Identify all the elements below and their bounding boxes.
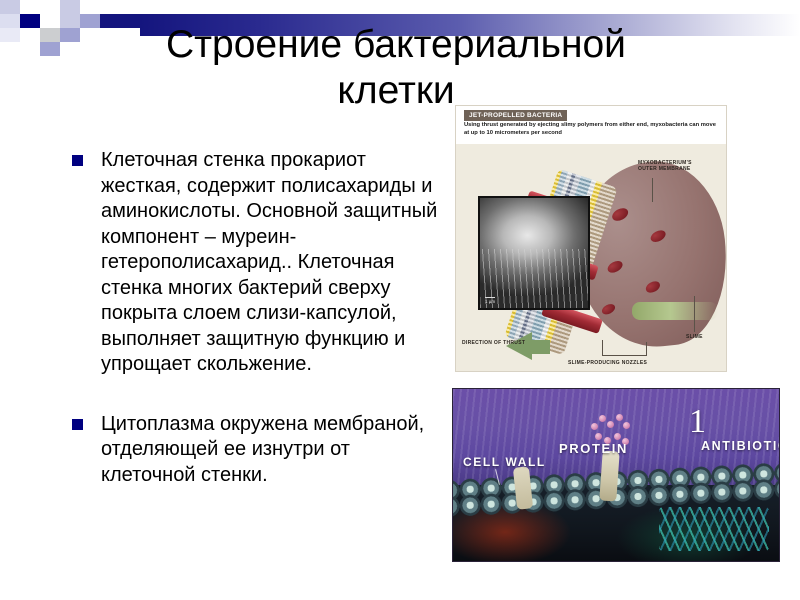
label-outer-membrane: MYXOBACTERIUM'S OUTER MEMBRANE: [638, 160, 692, 173]
decoration-square: [60, 0, 80, 14]
scale-bar-label: 1 µm: [485, 297, 495, 304]
antibiotic-molecule-node: [623, 422, 630, 429]
label-leader-line: [646, 342, 647, 356]
antibiotic-molecule-node: [616, 414, 623, 421]
decoration-square: [60, 14, 80, 28]
label-slime: SLIME: [686, 334, 703, 340]
decoration-square: [20, 14, 40, 28]
decoration-square: [0, 14, 20, 28]
decoration-square: [40, 28, 60, 42]
label-leader-line: [694, 296, 695, 332]
membrane-protein-illustration: [599, 450, 619, 501]
antibiotic-molecule-node: [607, 421, 614, 428]
decoration-square: [40, 14, 60, 28]
decoration-square: [0, 0, 20, 14]
decoration-square: [20, 28, 40, 42]
antibiotic-molecule-node: [614, 433, 621, 440]
bullet-list: Клеточная стенка прокариот жесткая, соде…: [72, 148, 444, 488]
label-leader-line: [602, 340, 603, 356]
page-title: Строение бактериальной клетки: [96, 22, 696, 114]
membrane-pore-icon: [610, 206, 630, 224]
label-protein: PROTEIN: [559, 441, 628, 456]
list-item: Цитоплазма окружена мембраной, отделяюще…: [72, 412, 444, 489]
step-number-label: 1: [689, 403, 706, 441]
thrust-arrow-tail: [532, 340, 550, 354]
list-item: Клеточная стенка прокариот жесткая, соде…: [72, 148, 444, 378]
label-direction-of-thrust: DIRECTION OF THRUST: [462, 340, 525, 346]
list-item-text: Цитоплазма окружена мембраной, отделяюще…: [101, 412, 444, 489]
antibiotic-molecule-node: [591, 423, 598, 430]
figure-antibiotic-action: CELL WALL PROTEIN ANTIBIOTIC 1: [452, 388, 780, 562]
list-item-text: Клеточная стенка прокариот жесткая, соде…: [101, 148, 444, 378]
label-leader-line: [602, 355, 646, 356]
electron-micrograph-inset: 1 µm: [478, 196, 590, 310]
membrane-pore-icon: [644, 279, 662, 295]
figure-header: JET-PROPELLED BACTERIA Using thrust gene…: [456, 106, 726, 144]
micrograph-streak-texture: [480, 249, 588, 308]
label-leader-line: [652, 178, 653, 202]
figure-illustration: 1 µm MYXOBACTERIUM'S OUTER MEMBRANE DIRE…: [456, 144, 726, 371]
figure-jet-propelled-bacteria: JET-PROPELLED BACTERIA Using thrust gene…: [455, 105, 727, 372]
decoration-square: [0, 28, 20, 42]
antibiotic-molecule-node: [599, 415, 606, 422]
label-slime-producing-nozzles: SLIME-PRODUCING NOZZLES: [568, 360, 647, 366]
decoration-square: [60, 28, 80, 42]
figure-badge-label: JET-PROPELLED BACTERIA: [464, 110, 567, 121]
antibiotic-molecule-node: [595, 433, 602, 440]
membrane-pore-icon: [606, 259, 625, 275]
label-cell-wall: CELL WALL: [463, 455, 546, 469]
slime-trail-illustration: [632, 302, 718, 320]
membrane-pore-icon: [600, 302, 617, 317]
square-bullet-icon: [72, 419, 83, 430]
square-bullet-icon: [72, 155, 83, 166]
decoration-square: [80, 0, 100, 14]
membrane-pore-icon: [649, 228, 668, 244]
figure-caption: Using thrust generated by ejecting slimy…: [464, 122, 718, 137]
dna-helix-illustration-strand2: [659, 507, 769, 551]
decoration-square: [20, 0, 40, 14]
label-antibiotic: ANTIBIOTIC: [701, 439, 780, 453]
decoration-square: [40, 42, 60, 56]
decoration-square: [40, 0, 60, 14]
